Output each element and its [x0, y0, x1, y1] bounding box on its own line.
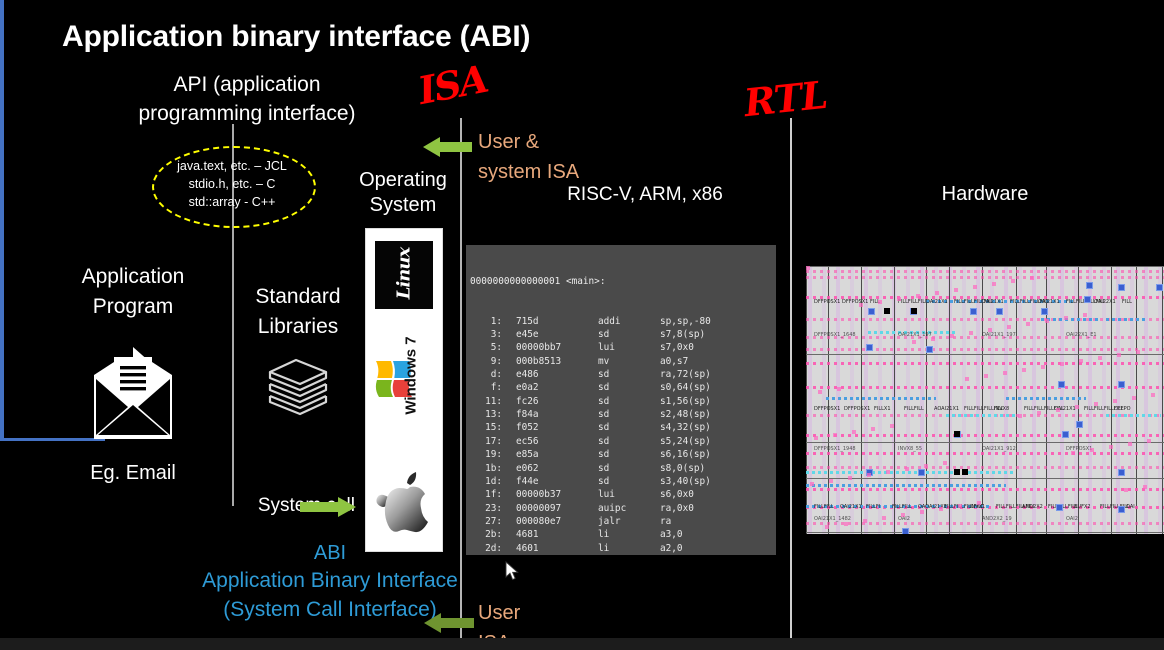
assembly-row: 2b:4681lia3,0: [470, 528, 776, 541]
chip-via: [970, 308, 977, 315]
assembly-operands: s6,0x0: [660, 488, 694, 501]
power-stripe: [1032, 266, 1036, 534]
assembly-address: 27:: [470, 515, 502, 528]
chip-cell-label: OAI21X1_197: [898, 332, 932, 338]
chip-pink-dot: [984, 374, 988, 378]
assembly-mnemonic: sd: [598, 475, 660, 488]
chip-pink-dot: [1060, 362, 1064, 366]
user-isa-arrow-icon: [424, 613, 474, 633]
chip-pink-dot: [1109, 445, 1113, 449]
chip-pink-dot: [1143, 485, 1147, 489]
chip-pink-dot: [867, 473, 871, 477]
chip-pink-dot: [897, 297, 901, 301]
chip-cell-label: OAI21X1: [926, 299, 948, 305]
chip-via: [1156, 284, 1163, 291]
assembly-operands: s0,64(sp): [660, 381, 711, 394]
assembly-operands: s2,48(sp): [660, 408, 711, 421]
power-stripe: [920, 266, 924, 534]
metal-track-pink: [806, 522, 1164, 525]
chip-via: [996, 308, 1003, 315]
chip-layout-image: DFFPOSX1DFFPOSX1FILLFILLFILLFILLOAI21X1F…: [806, 266, 1164, 534]
chip-pink-dot: [825, 525, 829, 529]
assembly-bytes: f44e: [502, 475, 598, 488]
chip-pink-dot: [1083, 313, 1087, 317]
assembly-operands: s1,56(sp): [660, 395, 711, 408]
chip-pink-dot: [878, 300, 882, 304]
chip-pink-dot: [1147, 439, 1151, 443]
chip-pink-dot: [905, 467, 909, 471]
metal-track-blue: [1041, 318, 1101, 321]
assembly-mnemonic: sd: [598, 408, 660, 421]
assembly-bytes: e0a2: [502, 381, 598, 394]
power-stripe: [850, 266, 854, 534]
assembly-operands: a2,0: [660, 542, 683, 555]
assembly-address: 1f:: [470, 488, 502, 501]
books-stack-icon: [262, 352, 334, 424]
assembly-operands: s5,24(sp): [660, 435, 711, 448]
chip-contact: [962, 469, 968, 475]
assembly-row: 11:fc26sds1,56(sp): [470, 395, 776, 408]
assembly-mnemonic: sd: [598, 395, 660, 408]
chip-row-separator: [806, 442, 1164, 443]
assembly-header: 0000000000000001 <main>:: [470, 275, 776, 288]
chip-contact: [884, 308, 890, 314]
chip-via: [902, 528, 909, 534]
chip-pink-dot: [844, 522, 848, 526]
assembly-address: 1:: [470, 315, 502, 328]
chip-cell-label: OAI2: [1066, 516, 1078, 522]
chip-pink-dot: [1018, 414, 1022, 418]
metal-track-pink: [806, 362, 1164, 365]
chip-via: [1086, 282, 1093, 289]
assembly-operands: ra,72(sp): [660, 368, 711, 381]
chip-pink-dot: [924, 464, 928, 468]
power-stripe: [808, 266, 812, 534]
chip-cell-label: OAI21X1: [982, 299, 1004, 305]
assembly-operands: a3,0: [660, 528, 683, 541]
chip-cell-label: FILLFILLFILL: [898, 299, 928, 305]
assembly-address: 13:: [470, 408, 502, 421]
assembly-bytes: 00000bb7: [502, 341, 598, 354]
chip-pink-dot: [1113, 399, 1117, 403]
chip-pink-dot: [1132, 396, 1136, 400]
metal-track-pink: [806, 434, 1164, 437]
power-stripe: [1018, 266, 1022, 534]
chip-row-separator: [806, 266, 1164, 267]
assembly-row: 2d:4601lia2,0: [470, 542, 776, 555]
chip-pink-dot: [1045, 319, 1049, 323]
chip-cell-label: DFFPOSX1: [842, 299, 868, 305]
chip-pink-dot: [958, 504, 962, 508]
chip-vertical-rule: [926, 266, 927, 534]
chip-cell-label: DFFPOSX1: [814, 299, 840, 305]
assembly-bytes: 00000097: [502, 502, 598, 515]
assembly-mnemonic: li: [598, 528, 660, 541]
metal-track-cyan: [1106, 414, 1161, 417]
api-heading: API (applicationprogramming interface): [112, 70, 382, 128]
chip-pink-dot: [950, 334, 954, 338]
chip-vertical-rule: [1078, 266, 1079, 534]
power-stripe: [1088, 266, 1092, 534]
assembly-operands: s7,0x0: [660, 341, 694, 354]
assembly-row: 1d:f44esds3,40(sp): [470, 475, 776, 488]
assembly-row: 1:715daddisp,sp,-80: [470, 315, 776, 328]
assembly-bytes: e45e: [502, 328, 598, 341]
assembly-bytes: 4681: [502, 528, 598, 541]
chip-vertical-rule: [894, 266, 895, 534]
chip-pink-dot: [1079, 359, 1083, 363]
chip-pink-dot: [882, 516, 886, 520]
chip-via: [868, 308, 875, 315]
power-stripe: [822, 266, 826, 534]
assembly-body: 1:715daddisp,sp,-803:e45esds7,8(sp)5:000…: [470, 315, 776, 555]
chip-pink-dot: [1003, 371, 1007, 375]
chip-via: [1118, 469, 1125, 476]
chip-cell-label: AND2X2_19: [982, 516, 1012, 522]
chip-pink-dot: [852, 430, 856, 434]
assembly-mnemonic: addi: [598, 315, 660, 328]
assembly-mnemonic: sd: [598, 448, 660, 461]
power-stripe: [878, 266, 882, 534]
chip-vertical-rule: [1111, 266, 1112, 534]
chip-vertical-rule: [1162, 266, 1163, 534]
application-example-label: Eg. Email: [42, 461, 224, 486]
chip-pink-dot: [871, 427, 875, 431]
chip-cell-label: OAI21X1_197: [982, 332, 1016, 338]
os-logos-panel: Linux Windows 7: [365, 228, 443, 552]
chip-pink-dot: [859, 303, 863, 307]
assembly-mnemonic: lui: [598, 488, 660, 501]
chip-pink-dot: [1090, 448, 1094, 452]
chip-cell-label: DFFPOSX1: [844, 406, 870, 412]
isa-heading: RISC-V, ARM, x86: [500, 182, 790, 207]
assembly-mnemonic: mv: [598, 355, 660, 368]
metal-track-blue: [806, 484, 1006, 487]
metal-track-pink: [806, 452, 1164, 455]
assembly-bytes: f052: [502, 421, 598, 434]
chip-pink-dot: [1098, 356, 1102, 360]
assembly-address: 5:: [470, 341, 502, 354]
chip-cell-label: INVX8_55: [898, 446, 922, 452]
chip-vertical-rule: [949, 266, 950, 534]
chip-pink-dot: [1124, 488, 1128, 492]
chip-cell-label: OAI21X1: [1038, 299, 1060, 305]
system-call-arrow-icon: [300, 497, 356, 517]
standard-libraries-heading: StandardLibraries: [228, 282, 368, 342]
metal-track-pink: [806, 466, 1164, 469]
power-stripe: [1144, 266, 1148, 534]
chip-cell-label: AND2X2: [1022, 504, 1043, 510]
power-stripe: [906, 266, 910, 534]
divider-hardware: [790, 118, 792, 650]
metal-track-pink: [806, 488, 1164, 491]
assembly-bytes: ec56: [502, 435, 598, 448]
assembly-bytes: e486: [502, 368, 598, 381]
power-stripe: [836, 266, 840, 534]
assembly-bytes: f84a: [502, 408, 598, 421]
chip-cell-label: OAI21X1_912: [982, 446, 1016, 452]
assembly-operands: ra: [660, 515, 671, 528]
assembly-mnemonic: jalr: [598, 515, 660, 528]
power-stripe: [934, 266, 938, 534]
assembly-row: 5:00000bb7luis7,0x0: [470, 341, 776, 354]
assembly-address: 11:: [470, 395, 502, 408]
chip-pink-dot: [1136, 350, 1140, 354]
metal-track-pink: [806, 348, 1164, 351]
assembly-mnemonic: sd: [598, 328, 660, 341]
power-stripe: [990, 266, 994, 534]
chip-cell-label: FILLX1: [874, 406, 891, 412]
assembly-row: f:e0a2sds0,64(sp): [470, 381, 776, 394]
chip-pink-dot: [931, 337, 935, 341]
chip-cell-label: FILLFILL: [892, 504, 912, 510]
power-stripe: [976, 266, 980, 534]
metal-track-pink: [806, 386, 1164, 389]
chip-cell-label: INVX8: [994, 406, 1009, 412]
api-examples-text: java.text, etc. – JCLstdio.h, etc. – Cst…: [150, 157, 314, 211]
chip-pink-dot: [1026, 322, 1030, 326]
chip-row-separator: [806, 532, 1164, 533]
chip-pink-dot: [1128, 442, 1132, 446]
assembly-address: 19:: [470, 448, 502, 461]
chip-pink-dot: [988, 328, 992, 332]
assembly-bytes: e85a: [502, 448, 598, 461]
chip-pink-dot: [833, 433, 837, 437]
assembly-operands: s4,32(sp): [660, 421, 711, 434]
chip-pink-dot: [848, 476, 852, 480]
metal-track-blue: [1106, 318, 1146, 321]
assembly-operands: s6,16(sp): [660, 448, 711, 461]
assembly-bytes: fc26: [502, 395, 598, 408]
assembly-bytes: 715d: [502, 315, 598, 328]
chip-via: [1118, 381, 1125, 388]
assembly-mnemonic: sd: [598, 368, 660, 381]
chip-pink-dot: [1030, 276, 1034, 280]
assembly-address: d:: [470, 368, 502, 381]
mouse-cursor: [505, 561, 519, 581]
chip-pink-dot: [935, 291, 939, 295]
chip-pink-dot: [1071, 451, 1075, 455]
chip-pink-dot: [943, 461, 947, 465]
assembly-address: 17:: [470, 435, 502, 448]
chip-row-separator: [806, 354, 1164, 355]
page-title: Application binary interface (ABI): [62, 20, 530, 54]
chip-cell-label: FILL: [1122, 299, 1132, 305]
assembly-address: 1d:: [470, 475, 502, 488]
user-system-isa-label: User &system ISA: [478, 127, 608, 187]
assembly-row: 27:000080e7jalrra: [470, 515, 776, 528]
chip-pink-dot: [1041, 365, 1045, 369]
bottom-bar: [0, 638, 1164, 650]
windows-logo-text: Windows 7: [403, 322, 420, 430]
chip-contact: [954, 431, 960, 437]
chip-cell-label: AOAI21X1: [934, 406, 959, 412]
chip-pink-dot: [920, 510, 924, 514]
chip-pink-dot: [969, 331, 973, 335]
operating-system-heading: OperatingSystem: [348, 168, 458, 218]
windows-logo: Windows 7: [368, 325, 440, 455]
assembly-row: d:e486sdra,72(sp): [470, 368, 776, 381]
chip-pink-dot: [1022, 368, 1026, 372]
ink-annotation-isa: ISA: [414, 56, 490, 113]
chip-pink-dot: [837, 387, 841, 391]
chip-contact: [954, 469, 960, 475]
abi-short-label: ABI: [300, 542, 360, 565]
chip-cell-label: FILLFILL: [904, 406, 924, 412]
chip-cell-label: FILLFILL: [814, 504, 834, 510]
chip-vertical-rule: [1046, 266, 1047, 534]
chip-row-separator: [806, 478, 1164, 479]
chip-pink-dot: [806, 266, 810, 270]
chip-cell-label: OAI21X1: [840, 504, 862, 510]
metal-track-cyan: [806, 471, 1016, 474]
chip-pink-dot: [901, 513, 905, 517]
assembly-row: 13:f84asds2,48(sp): [470, 408, 776, 421]
chip-pink-dot: [1007, 325, 1011, 329]
chip-pink-dot: [977, 501, 981, 505]
assembly-mnemonic: lui: [598, 341, 660, 354]
chip-vertical-rule: [982, 266, 983, 534]
assembly-address: 2b:: [470, 528, 502, 541]
apple-logo-icon: [374, 467, 434, 539]
chip-cell-label: DFFPO: [1114, 406, 1131, 412]
assembly-operands: ra,0x0: [660, 502, 694, 515]
chip-vertical-rule: [1016, 266, 1017, 534]
chip-pink-dot: [1056, 408, 1060, 412]
chip-pink-dot: [1064, 316, 1068, 320]
chip-vertical-rule: [1136, 266, 1137, 534]
assembly-bytes: 000b8513: [502, 355, 598, 368]
chip-via: [1076, 421, 1083, 428]
chip-via: [1058, 381, 1065, 388]
chip-via: [1062, 431, 1069, 438]
assembly-address: 2d:: [470, 542, 502, 555]
chip-cell-label: OAI: [1126, 504, 1135, 510]
slide-canvas: Application binary interface (ABI) API (…: [0, 0, 1164, 650]
chip-pink-dot: [1075, 405, 1079, 409]
assembly-mnemonic: sd: [598, 435, 660, 448]
chip-via: [1118, 284, 1125, 291]
chip-pink-dot: [1117, 353, 1121, 357]
assembly-row: 19:e85asds6,16(sp): [470, 448, 776, 461]
metal-track-pink: [806, 276, 1164, 279]
assembly-mnemonic: sd: [598, 421, 660, 434]
divider-abi-blue: [0, 0, 4, 438]
chip-cell-label: FILLFI: [866, 504, 880, 510]
chip-cell-label: DFFPOSX1_1948: [814, 446, 856, 452]
chip-via: [926, 346, 933, 353]
assembly-address: f:: [470, 381, 502, 394]
chip-pink-dot: [1037, 411, 1041, 415]
chip-pink-dot: [814, 436, 818, 440]
assembly-address: 23:: [470, 502, 502, 515]
assembly-mnemonic: sd: [598, 462, 660, 475]
chip-vertical-rule: [828, 266, 829, 534]
power-stripe: [962, 266, 966, 534]
assembly-address: 15:: [470, 421, 502, 434]
chip-pink-dot: [973, 285, 977, 289]
power-stripe: [1060, 266, 1064, 534]
chip-pink-dot: [890, 424, 894, 428]
assembly-row: 15:f052sds4,32(sp): [470, 421, 776, 434]
metal-track-blue: [826, 397, 936, 400]
chip-pink-dot: [965, 377, 969, 381]
chip-pink-dot: [818, 390, 822, 394]
assembly-mnemonic: li: [598, 542, 660, 555]
assembly-operands: sp,sp,-80: [660, 315, 711, 328]
chip-cell-label: DFFPOSX1_1648: [814, 332, 856, 338]
chip-pink-dot: [992, 282, 996, 286]
assembly-mnemonic: auipc: [598, 502, 660, 515]
assembly-bytes: 4601: [502, 542, 598, 555]
assembly-row: 1b:e062sds8,0(sp): [470, 462, 776, 475]
assembly-operands: s3,40(sp): [660, 475, 711, 488]
assembly-row: 1f:00000b37luis6,0x0: [470, 488, 776, 501]
metal-track-pink: [806, 270, 1164, 273]
assembly-row: 3:e45esds7,8(sp): [470, 328, 776, 341]
chip-via: [918, 469, 925, 476]
chip-pink-dot: [1151, 393, 1155, 397]
chip-pink-dot: [939, 507, 943, 511]
chip-contact: [911, 308, 917, 314]
chip-via: [1118, 506, 1125, 513]
power-stripe: [864, 266, 868, 534]
chip-pink-dot: [810, 482, 814, 486]
email-envelope-icon: [92, 345, 174, 441]
chip-cell-label: OAI22X1: [1094, 299, 1116, 305]
chip-pink-dot: [954, 288, 958, 292]
assembly-address: 1b:: [470, 462, 502, 475]
assembly-mnemonic: sd: [598, 381, 660, 394]
chip-via: [1041, 308, 1048, 315]
assembly-listing: 0000000000000001 <main>: 1:715daddisp,sp…: [466, 245, 776, 555]
assembly-address: 9:: [470, 355, 502, 368]
chip-pink-dot: [1011, 279, 1015, 283]
assembly-bytes: 00000b37: [502, 488, 598, 501]
application-program-heading: ApplicationProgram: [42, 262, 224, 322]
chip-via: [1084, 296, 1091, 303]
power-stripe: [1102, 266, 1106, 534]
assembly-row: 23:00000097auipcra,0x0: [470, 502, 776, 515]
assembly-operands: s8,0(sp): [660, 462, 705, 475]
chip-cell-label: BUFX2: [1074, 504, 1091, 510]
chip-pink-dot: [916, 294, 920, 298]
assembly-bytes: 000080e7: [502, 515, 598, 528]
chip-cell-label: DFFPOSX1: [1066, 446, 1092, 452]
assembly-operands: a0,s7: [660, 355, 688, 368]
divider-abi-blue-horizontal: [0, 438, 105, 441]
power-stripe: [1130, 266, 1134, 534]
chip-cell-label: DFFPOSX1: [814, 406, 840, 412]
chip-pink-dot: [886, 470, 890, 474]
linux-logo-text: Linux: [394, 241, 415, 307]
metal-track-blue: [1006, 397, 1086, 400]
chip-pink-dot: [829, 479, 833, 483]
chip-pink-dot: [912, 340, 916, 344]
chip-pink-dot: [1094, 402, 1098, 406]
power-stripe: [1004, 266, 1008, 534]
assembly-bytes: e062: [502, 462, 598, 475]
assembly-row: 9:000b8513mva0,s7: [470, 355, 776, 368]
assembly-row: 17:ec56sds5,24(sp): [470, 435, 776, 448]
chip-cell-label: OAI22X1_E1: [1066, 332, 1097, 338]
hardware-heading: Hardware: [880, 182, 1090, 207]
chip-vertical-rule: [806, 266, 807, 534]
assembly-address: 3:: [470, 328, 502, 341]
chip-pink-dot: [863, 519, 867, 523]
chip-via: [866, 344, 873, 351]
ink-annotation-rtl: RTL: [742, 72, 829, 125]
